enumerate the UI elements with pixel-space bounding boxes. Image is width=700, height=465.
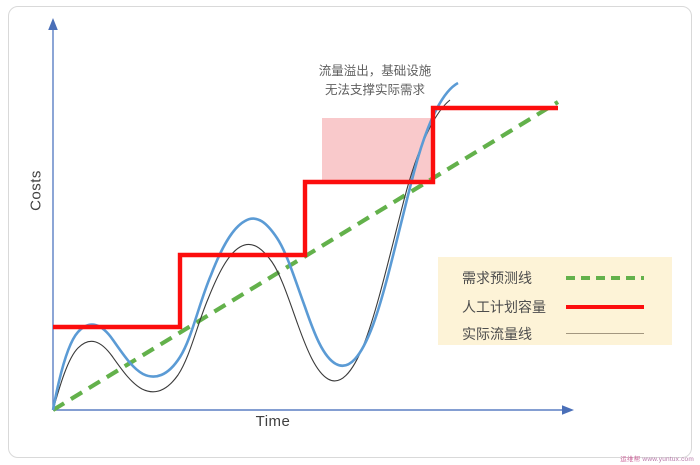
annotation-line-2: 无法支撑实际需求 — [290, 81, 460, 100]
chart-legend: 需求预测线 人工计划容量 实际流量线 — [438, 257, 672, 345]
legend-swatch-demand-forecast — [566, 271, 644, 285]
overflow-highlight-rect — [322, 118, 433, 183]
annotation-line-1: 流量溢出，基础设施 — [290, 62, 460, 81]
y-axis-title: Costs — [28, 161, 45, 221]
legend-swatch-actual-traffic — [566, 327, 644, 341]
legend-item-actual-traffic: 实际流量线 — [438, 319, 672, 348]
legend-label-planned-capacity: 人工计划容量 — [438, 297, 566, 317]
watermark: 运维帮 www.yuntux.com — [620, 453, 694, 463]
dashed-line-icon — [566, 276, 644, 280]
legend-swatch-planned-capacity — [566, 300, 644, 314]
right-arrow-icon — [562, 405, 574, 415]
legend-item-planned-capacity: 人工计划容量 — [438, 292, 672, 321]
thin-line-icon — [566, 333, 644, 335]
chart-screenshot: Costs Time 流量溢出，基础设施 无法支撑实际需求 需求预测线 人工计划… — [0, 0, 700, 465]
watermark-brand: 运维帮 — [620, 456, 640, 463]
solid-line-icon — [566, 305, 644, 309]
legend-item-demand-forecast: 需求预测线 — [438, 263, 672, 292]
legend-label-demand-forecast: 需求预测线 — [438, 268, 566, 288]
up-arrow-icon — [48, 18, 58, 30]
overflow-annotation: 流量溢出，基础设施 无法支撑实际需求 — [290, 62, 460, 100]
watermark-site: www.yuntux.com — [642, 456, 694, 463]
x-axis-title: Time — [203, 413, 343, 430]
legend-label-actual-traffic: 实际流量线 — [438, 324, 566, 344]
